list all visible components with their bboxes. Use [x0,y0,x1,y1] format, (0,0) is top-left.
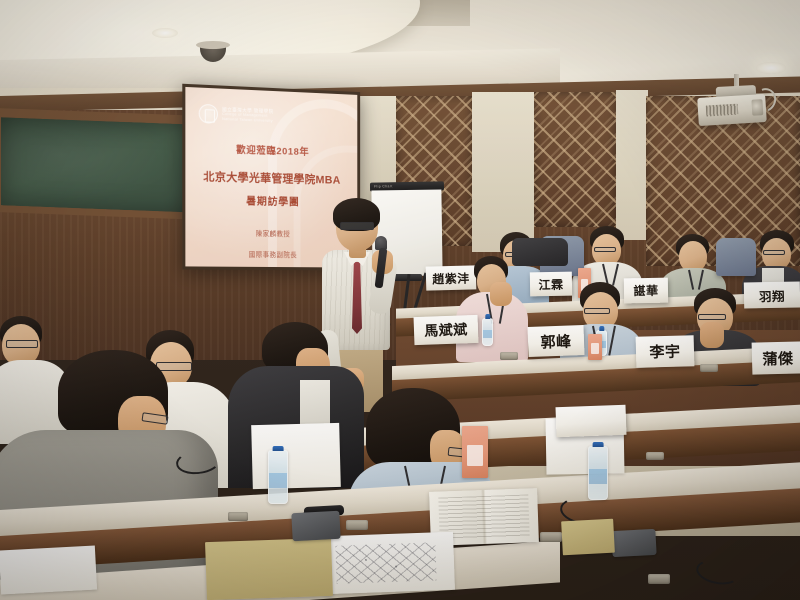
slide-logo: 國立臺灣大學 管理學院 College of Management Nation… [199,104,274,126]
name-placard: 江霖 [530,272,572,297]
glasses-icon [698,314,726,320]
microphone-gooseneck [694,556,741,587]
lecture-hall-photo: 國立臺灣大學 管理學院 College of Management Nation… [0,0,800,600]
ceiling-projector [697,94,767,126]
name-placard [555,405,626,437]
chalk-dust [1,117,199,213]
name-placard: 郭峰 [527,325,584,357]
placard-name: 諶華 [633,282,658,299]
diagram-sketch [335,542,436,583]
glasses-icon [594,247,616,252]
glasses-icon [6,340,38,348]
slide-speaker-name: 陳家麟教授 [185,227,357,239]
glasses-icon [584,308,610,314]
name-placard: 李宇 [636,335,695,368]
projection-screen: 國立臺灣大學 管理學院 College of Management Nation… [185,87,357,268]
smartphone [291,511,340,541]
desk-cable-plate [500,352,518,360]
kraft-folder [205,538,333,600]
desk-cable-plate [648,574,670,584]
placard-name: 李宇 [649,341,681,363]
chalkboard [0,108,206,220]
paper-sheet [0,546,97,595]
smartphone [611,529,656,557]
kraft-folder [561,519,615,556]
lattice-panel [534,92,616,227]
hand [700,322,724,348]
water-bottle [588,446,608,500]
bag [512,238,568,266]
placard-name: 郭峰 [540,330,572,352]
recessed-light-icon [756,62,786,74]
university-seal-icon [199,104,218,124]
wall-plaster-column [616,90,648,240]
glasses-icon [763,250,785,255]
logo-line-3: National Taiwan University [222,117,274,124]
placard-name: 江霖 [538,275,563,292]
desk-cable-plate [700,364,718,372]
water-bottle [268,450,288,504]
hand [490,282,512,306]
desk-cable-plate [228,512,248,521]
projection-screen-frame: 國立臺灣大學 管理學院 College of Management Nation… [182,84,360,271]
slide-body: 歡迎蒞臨2018年 北京大學光華管理學院MBA 暑期訪學團 陳家麟教授 國際事務… [185,140,357,268]
placard-name: 趙紫沣 [432,269,470,287]
wall-plaster-column [472,92,534,252]
name-placard: 趙紫沣 [426,265,477,290]
name-placard: 諶華 [624,278,668,304]
name-placard: 馬斌斌 [414,315,479,345]
desk-cable-plate [346,520,368,530]
product-box [588,334,602,360]
desk-cable-plate [540,532,562,542]
name-placard: 蒲傑 [752,341,800,374]
slide-title-line-2: 暑期訪學團 [185,191,357,210]
product-box [462,426,488,478]
placard-name: 馬斌斌 [424,319,468,341]
glasses-icon [340,222,374,230]
glasses-icon [156,362,192,371]
slide-title-line-1: 北京大學光華管理學院MBA [185,167,357,188]
blank-placard-paper [251,423,341,489]
desk-cable-plate [646,452,664,460]
recessed-light-icon [152,28,178,38]
chair-back [716,238,756,276]
placard-name: 羽翔 [759,285,785,304]
placard-name: 蒲傑 [762,347,794,369]
handout-paper [321,532,455,595]
flipchart-brand-label: Flip Chart [374,184,393,188]
name-placard: 羽翔 [744,282,800,309]
water-bottle [482,318,493,346]
